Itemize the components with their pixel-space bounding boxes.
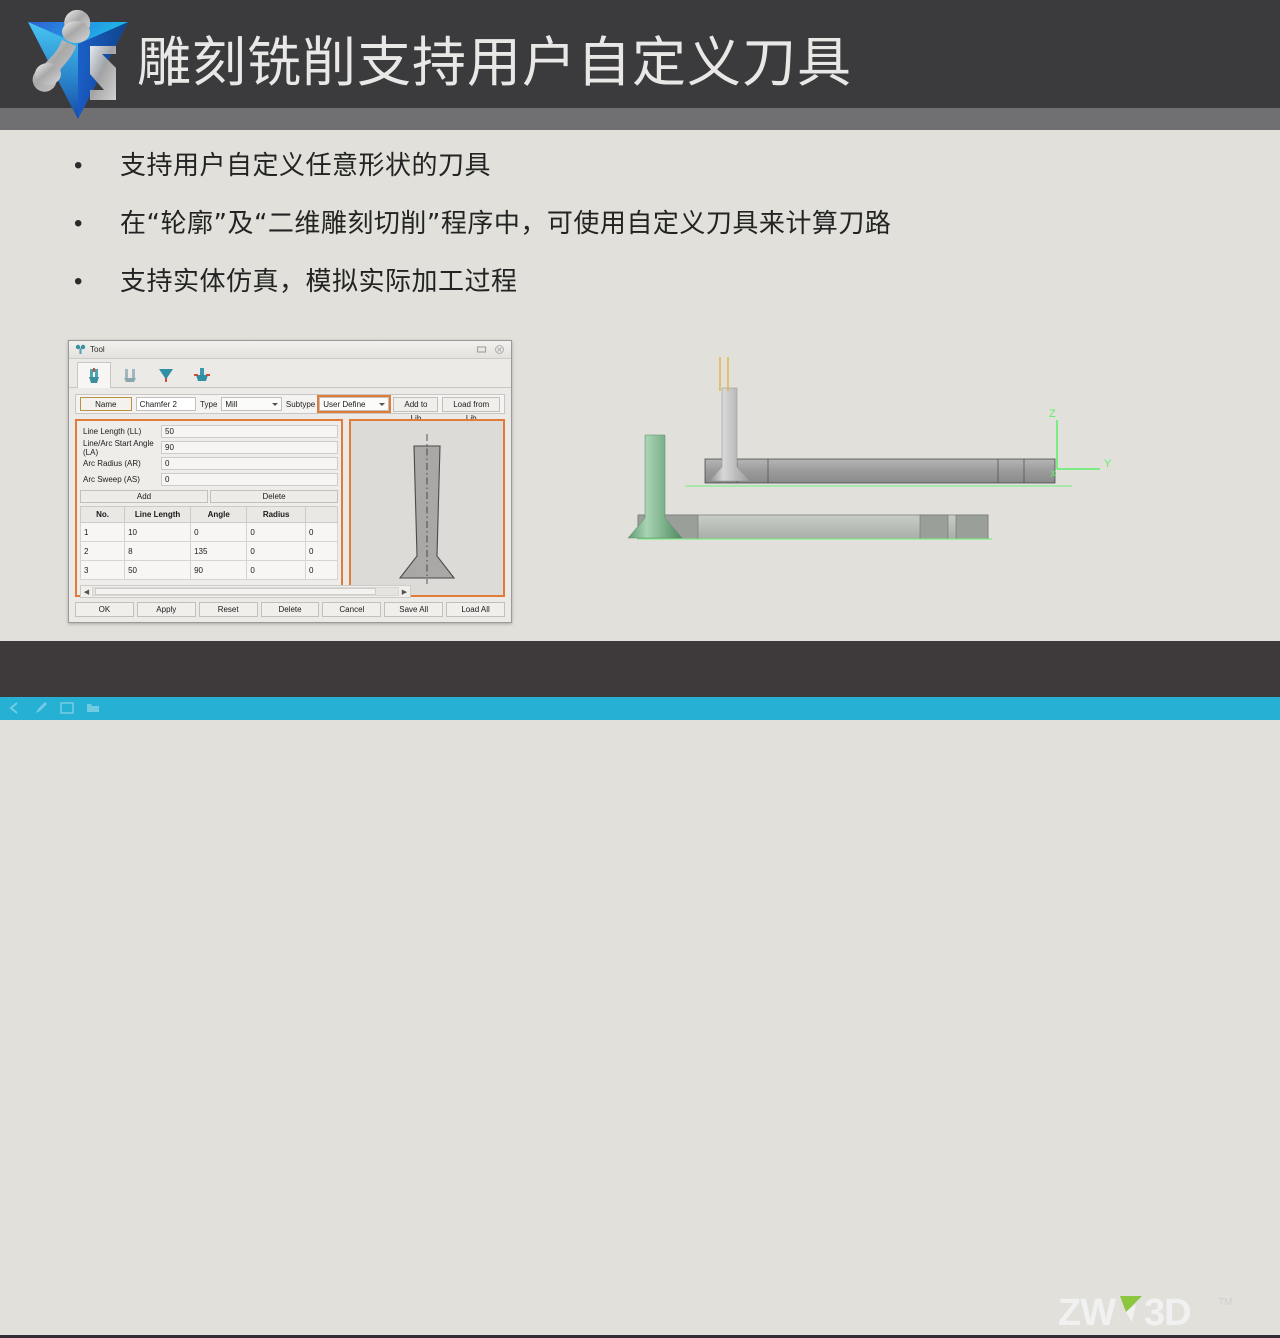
cell-angle[interactable]: 135 bbox=[191, 542, 247, 561]
cell-radius[interactable]: 0 bbox=[247, 542, 306, 561]
bullet-text: 在“轮廓”及“二维雕刻切削”程序中，可使用自定义刀具来计算刀路 bbox=[120, 206, 891, 242]
list-item: • 在“轮廓”及“二维雕刻切削”程序中，可使用自定义刀具来计算刀路 bbox=[60, 206, 1060, 242]
dialog-toolbar[interactable]: Name Chamfer 2 Type Mill Subtype User De… bbox=[75, 394, 505, 414]
window-icon[interactable] bbox=[60, 701, 74, 715]
cell-extra[interactable]: 0 bbox=[306, 542, 338, 561]
reset-button[interactable]: Reset bbox=[199, 602, 258, 617]
scrollbar-thumb[interactable] bbox=[95, 588, 376, 595]
bullet-list: • 支持用户自定义任意形状的刀具 • 在“轮廓”及“二维雕刻切削”程序中，可使用… bbox=[60, 148, 1060, 322]
cell-angle[interactable]: 0 bbox=[191, 523, 247, 542]
add-to-lib-button[interactable]: Add to Lib bbox=[393, 397, 438, 412]
drill-tool-icon bbox=[156, 365, 176, 385]
param-input[interactable]: 90 bbox=[161, 441, 338, 454]
bullet-marker: • bbox=[60, 264, 120, 300]
cell-radius[interactable]: 0 bbox=[247, 561, 306, 580]
param-label: Arc Sweep (AS) bbox=[80, 475, 161, 484]
taskbar[interactable] bbox=[0, 697, 1280, 720]
tool-type-tabs[interactable] bbox=[69, 359, 511, 388]
table-row[interactable]: 2 8 135 0 0 bbox=[81, 542, 338, 561]
dialog-buttons[interactable]: OK Apply Reset Delete Cancel Save All Lo… bbox=[75, 602, 505, 617]
bullet-text: 支持实体仿真，模拟实际加工过程 bbox=[120, 264, 518, 300]
table-row[interactable]: 1 10 0 0 0 bbox=[81, 523, 338, 542]
chevron-down-icon bbox=[272, 403, 278, 406]
cell-radius[interactable]: 0 bbox=[247, 523, 306, 542]
page-title: 雕刻铣削支持用户自定义刀具 bbox=[137, 31, 852, 95]
header-accent-band bbox=[0, 108, 1280, 130]
cell-line-length[interactable]: 50 bbox=[125, 561, 191, 580]
back-icon[interactable] bbox=[8, 701, 22, 715]
ok-button[interactable]: OK bbox=[75, 602, 134, 617]
col-angle: Angle bbox=[191, 507, 247, 523]
save-all-button[interactable]: Save All bbox=[384, 602, 443, 617]
solid-simulation-view: Z Y X bbox=[620, 355, 1120, 570]
param-row[interactable]: Arc Radius (AR) 0 bbox=[80, 456, 338, 471]
svg-text:TM: TM bbox=[1218, 1297, 1232, 1308]
cell-no[interactable]: 3 bbox=[81, 561, 125, 580]
svg-text:X: X bbox=[1050, 469, 1057, 480]
param-input[interactable]: 0 bbox=[161, 457, 338, 470]
tool-profile-preview bbox=[349, 419, 505, 597]
load-from-lib-button[interactable]: Load from Lib bbox=[442, 397, 500, 412]
subtype-select[interactable]: User Define bbox=[319, 397, 389, 411]
tool-dialog[interactable]: Tool bbox=[68, 340, 512, 623]
bullet-marker: • bbox=[60, 206, 120, 242]
tab-mill-tool[interactable] bbox=[77, 362, 111, 388]
cancel-button[interactable]: Cancel bbox=[322, 602, 381, 617]
add-button[interactable]: Add bbox=[80, 490, 208, 503]
custom-tool-icon bbox=[192, 365, 212, 385]
axis-triad: Z Y X bbox=[1049, 408, 1112, 480]
segments-table[interactable]: No. Line Length Angle Radius 1 10 0 0 0 bbox=[80, 506, 338, 580]
cell-angle[interactable]: 90 bbox=[191, 561, 247, 580]
type-select[interactable]: Mill bbox=[221, 397, 281, 411]
folder-icon[interactable] bbox=[86, 701, 100, 715]
close-icon[interactable] bbox=[494, 344, 505, 355]
list-item: • 支持用户自定义任意形状的刀具 bbox=[60, 148, 1060, 184]
chevron-down-icon bbox=[379, 403, 385, 406]
minimize-icon[interactable] bbox=[476, 344, 487, 355]
param-row[interactable]: Line Length (LL) 50 bbox=[80, 424, 338, 439]
tab-turn-tool[interactable] bbox=[113, 361, 147, 387]
bullet-text: 支持用户自定义任意形状的刀具 bbox=[120, 148, 491, 184]
pencil-icon[interactable] bbox=[34, 701, 48, 715]
tool-name-input[interactable]: Chamfer 2 bbox=[136, 397, 196, 411]
param-input[interactable]: 0 bbox=[161, 473, 338, 486]
svg-text:Y: Y bbox=[1104, 458, 1112, 470]
apply-button[interactable]: Apply bbox=[137, 602, 196, 617]
param-input[interactable]: 50 bbox=[161, 425, 338, 438]
cell-no[interactable]: 1 bbox=[81, 523, 125, 542]
horizontal-scrollbar[interactable]: ◀ ▶ bbox=[80, 585, 411, 598]
scrollbar-track[interactable] bbox=[92, 587, 399, 596]
zw3d-prism-logo bbox=[16, 4, 140, 128]
table-row[interactable]: 3 50 90 0 0 bbox=[81, 561, 338, 580]
load-all-button[interactable]: Load All bbox=[446, 602, 505, 617]
slide-footer: ZW 3D TM bbox=[0, 641, 1280, 697]
param-label: Line Length (LL) bbox=[80, 427, 161, 436]
svg-text:ZW: ZW bbox=[1058, 1292, 1116, 1332]
mill-tool-icon bbox=[84, 366, 104, 386]
zw3d-wordmark: ZW 3D TM bbox=[1058, 1292, 1258, 1332]
cell-line-length[interactable]: 8 bbox=[125, 542, 191, 561]
col-radius: Radius bbox=[247, 507, 306, 523]
table-header-row: No. Line Length Angle Radius bbox=[81, 507, 338, 523]
svg-text:Z: Z bbox=[1049, 408, 1056, 420]
tab-custom-tool[interactable] bbox=[185, 361, 219, 387]
cell-no[interactable]: 2 bbox=[81, 542, 125, 561]
bullet-marker: • bbox=[60, 148, 120, 184]
name-button[interactable]: Name bbox=[80, 397, 132, 411]
dialog-titlebar: Tool bbox=[69, 341, 511, 359]
subtype-label: Subtype bbox=[286, 400, 315, 409]
col-no: No. bbox=[81, 507, 125, 523]
list-item: • 支持实体仿真，模拟实际加工过程 bbox=[60, 264, 1060, 300]
col-extra bbox=[306, 507, 338, 523]
delete-button[interactable]: Delete bbox=[261, 602, 320, 617]
param-label: Line/Arc Start Angle (LA) bbox=[80, 439, 161, 457]
cell-line-length[interactable]: 10 bbox=[125, 523, 191, 542]
type-label: Type bbox=[200, 400, 217, 409]
scroll-right-icon[interactable]: ▶ bbox=[399, 588, 410, 596]
tab-drill-tool[interactable] bbox=[149, 361, 183, 387]
cell-extra[interactable]: 0 bbox=[306, 523, 338, 542]
col-line-length: Line Length bbox=[125, 507, 191, 523]
param-row[interactable]: Line/Arc Start Angle (LA) 90 bbox=[80, 440, 338, 455]
cell-extra[interactable]: 0 bbox=[306, 561, 338, 580]
dialog-title: Tool bbox=[90, 345, 105, 354]
turn-tool-icon bbox=[120, 365, 140, 385]
delete-row-button[interactable]: Delete bbox=[210, 490, 338, 503]
param-label: Arc Radius (AR) bbox=[80, 459, 161, 468]
type-select-value: Mill bbox=[225, 400, 237, 409]
param-row[interactable]: Arc Sweep (AS) 0 bbox=[80, 472, 338, 487]
subtype-select-value: User Define bbox=[323, 400, 365, 409]
scroll-left-icon[interactable]: ◀ bbox=[81, 588, 92, 596]
tool-icon bbox=[75, 344, 86, 355]
parameters-panel[interactable]: Line Length (LL) 50 Line/Arc Start Angle… bbox=[75, 419, 343, 597]
slide-header: 雕刻铣削支持用户自定义刀具 bbox=[0, 0, 1280, 128]
svg-text:3D: 3D bbox=[1144, 1292, 1191, 1332]
